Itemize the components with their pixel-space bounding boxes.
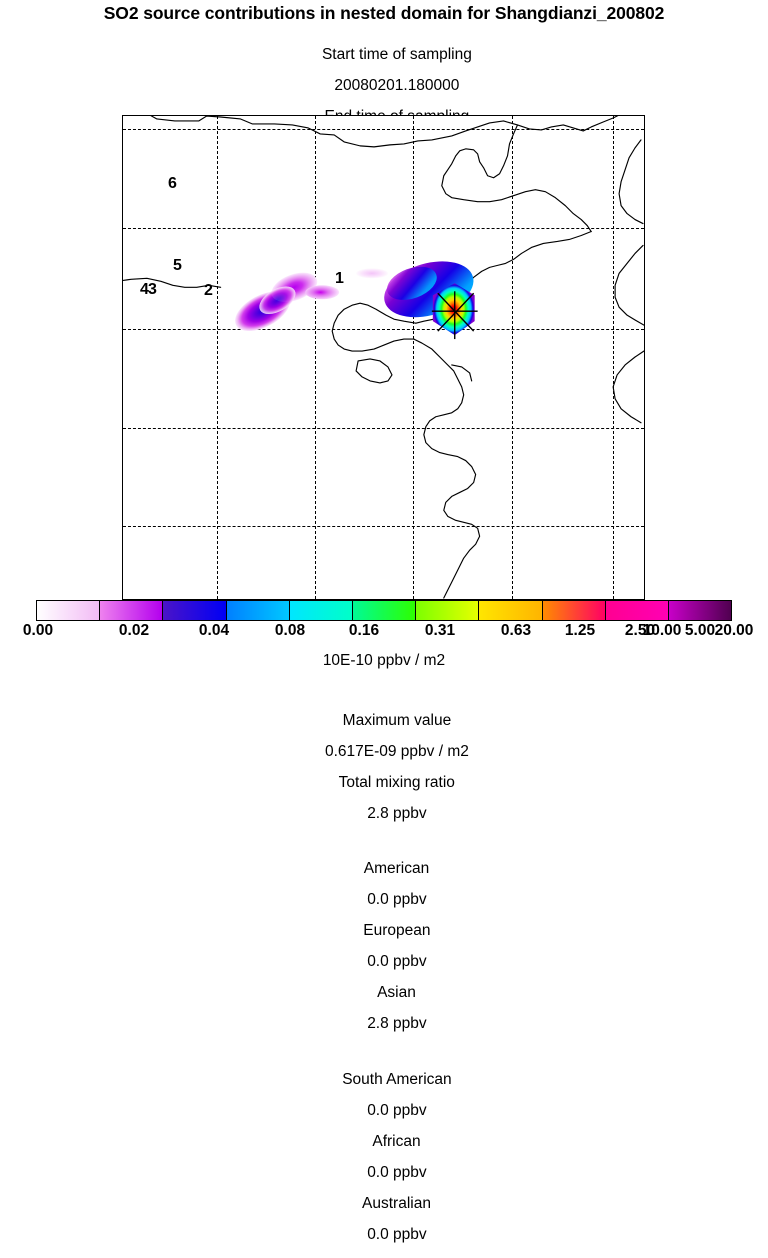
summary-row: Maximum value 0.617E-09 ppbv / m2 Total … — [0, 697, 768, 837]
colorbar-ticks: 0.00 0.02 0.04 0.08 0.16 0.31 0.63 1.25 … — [0, 623, 768, 641]
colorbar-tick: 0.00 — [23, 623, 53, 639]
region-name-asian: Asian — [377, 984, 416, 1001]
region-value-european: 0.0 ppbv — [367, 953, 426, 970]
contribution-row-1: American 0.0 ppbv European 0.0 ppbv Asia… — [0, 846, 768, 1048]
colorbar-tick: 1.25 — [565, 623, 595, 639]
colorbar-tick: 0.63 — [501, 623, 531, 639]
colorbar-segment — [226, 601, 289, 620]
region-name-american: American — [364, 860, 429, 877]
region-label-3: 3 — [148, 282, 157, 298]
colorbar-segment — [668, 601, 731, 620]
region-label-2: 2 — [204, 283, 213, 299]
map-panel: 6 5 4 3 2 1 — [122, 115, 645, 600]
colorbar-unit-label: 10E-10 ppbv / m2 — [0, 653, 768, 669]
region-value-african: 0.0 ppbv — [367, 1164, 426, 1181]
so2-source-contribution-plot: SO2 source contributions in nested domai… — [0, 0, 768, 768]
start-time-label: Start time of sampling — [322, 46, 472, 63]
region-name-european: European — [363, 922, 430, 939]
colorbar-segment — [605, 601, 668, 620]
colorbar-tick: 0.31 — [425, 623, 455, 639]
page-title: SO2 source contributions in nested domai… — [0, 5, 768, 23]
secondary-patch — [305, 285, 339, 299]
colorbar-tick: 0.04 — [199, 623, 229, 639]
colorbar-tick: 0.08 — [275, 623, 305, 639]
colorbar-segment — [162, 601, 225, 620]
start-time-value: 20080201.180000 — [334, 77, 459, 94]
region-name-south-american: South American — [342, 1071, 451, 1088]
colorbar — [36, 600, 732, 621]
total-mixing-ratio-label: Total mixing ratio — [339, 774, 455, 791]
total-mixing-ratio-value: 2.8 ppbv — [367, 805, 426, 822]
colorbar-segment — [542, 601, 605, 620]
footer: Maximum value 0.617E-09 ppbv / m2 Total … — [0, 688, 768, 1258]
region-label-1: 1 — [335, 271, 344, 287]
region-name-australian: Australian — [362, 1195, 431, 1212]
colorbar-segment — [37, 601, 99, 620]
concentration-field — [123, 116, 644, 599]
region-name-african: African — [372, 1133, 420, 1150]
region-value-asian: 2.8 ppbv — [367, 1015, 426, 1032]
colorbar-tick: 20.00 — [715, 623, 754, 639]
colorbar-tick: 0.02 — [119, 623, 149, 639]
western-plume — [229, 267, 322, 339]
region-label-5: 5 — [173, 258, 182, 274]
map-inner: 6 5 4 3 2 1 — [123, 116, 644, 599]
colorbar-segment — [415, 601, 478, 620]
colorbar-segment — [352, 601, 415, 620]
region-value-american: 0.0 ppbv — [367, 891, 426, 908]
colorbar-segment — [289, 601, 352, 620]
contribution-row-2: South American 0.0 ppbv African 0.0 ppbv… — [0, 1056, 768, 1258]
colorbar-segment — [99, 601, 162, 620]
maximum-value-label: Maximum value — [343, 712, 452, 729]
region-label-6: 6 — [168, 176, 177, 192]
region-value-south-american: 0.0 ppbv — [367, 1102, 426, 1119]
colorbar-segment — [478, 601, 541, 620]
faint-streak — [356, 268, 388, 278]
colorbar-tick: 5.00 — [685, 623, 715, 639]
maximum-value: 0.617E-09 ppbv / m2 — [325, 743, 469, 760]
region-value-australian: 0.0 ppbv — [367, 1226, 426, 1243]
colorbar-tick: 10.00 — [643, 623, 682, 639]
colorbar-tick: 0.16 — [349, 623, 379, 639]
